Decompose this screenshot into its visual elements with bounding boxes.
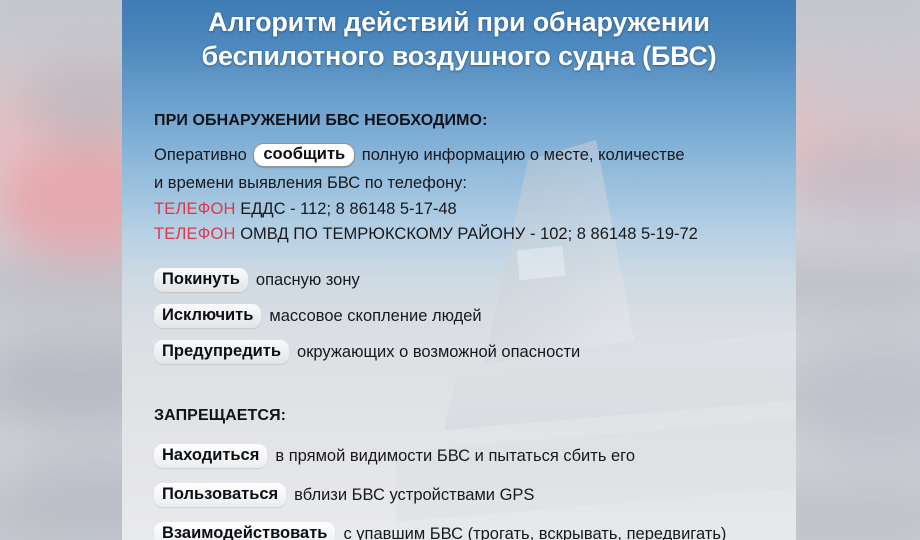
- phone-number-1: ЕДДС - 112; 8 86148 5-17-48: [240, 200, 457, 218]
- list-item: Исключить массовое скопление людей: [154, 301, 784, 331]
- poster-content: ПРИ ОБНАРУЖЕНИИ БВС НЕОБХОДИМО: Оператив…: [154, 112, 784, 540]
- title-line-1: Алгоритм действий при обнаружении: [136, 6, 782, 40]
- title-line-2: беспилотного воздушного судна (БВС): [136, 40, 782, 74]
- phone-icon-label-1: ТЕЛЕФОН: [154, 200, 236, 218]
- list-item: Покинуть опасную зону: [154, 265, 784, 295]
- action-text-pokinut: опасную зону: [256, 271, 360, 290]
- action-keyword-polzovatsya: Пользоваться: [154, 483, 286, 507]
- intro-paragraph-line-2: и времени выявления БВС по телефону:: [154, 170, 784, 197]
- action-keyword-vzaimodeystvovat: Взаимодействовать: [154, 522, 335, 540]
- phone-line-omvd: ТЕЛЕФОН ОМВД ПО ТЕМРЮКСКОМУ РАЙОНУ - 102…: [154, 222, 784, 247]
- intro-text-before: Оперативно: [154, 146, 247, 164]
- poster-panel: Алгоритм действий при обнаружении беспил…: [122, 0, 796, 540]
- list-item: Находиться в прямой видимости БВС и пыта…: [154, 441, 784, 471]
- action-text-predupredit: окружающих о возможной опасности: [297, 343, 580, 362]
- list-item: Взаимодействовать с упавшим БВС (трогать…: [154, 519, 784, 540]
- required-actions-list: Покинуть опасную зону Исключить массовое…: [154, 265, 784, 367]
- report-keyword-pill: сообщить: [253, 143, 355, 167]
- action-keyword-predupredit: Предупредить: [154, 340, 289, 364]
- forbidden-actions-list: Находиться в прямой видимости БВС и пыта…: [154, 441, 784, 540]
- section-heading-forbidden: ЗАПРЕЩАЕТСЯ:: [154, 407, 784, 425]
- phone-line-eддс: ТЕЛЕФОН ЕДДС - 112; 8 86148 5-17-48: [154, 197, 784, 222]
- phone-number-2: ОМВД ПО ТЕМРЮКСКОМУ РАЙОНУ - 102; 8 8614…: [240, 225, 698, 243]
- list-item: Предупредить окружающих о возможной опас…: [154, 337, 784, 367]
- intro-paragraph-line-1: Оперативно сообщить полную информацию о …: [154, 142, 784, 169]
- intro-text-after: полную информацию о месте, количестве: [362, 146, 685, 164]
- action-text-nahoditsya: в прямой видимости БВС и пытаться сбить …: [275, 447, 635, 466]
- poster-title: Алгоритм действий при обнаружении беспил…: [122, 6, 796, 74]
- section-heading-required: ПРИ ОБНАРУЖЕНИИ БВС НЕОБХОДИМО:: [154, 112, 784, 130]
- phone-icon-label-2: ТЕЛЕФОН: [154, 225, 236, 243]
- action-keyword-pokinut: Покинуть: [154, 268, 248, 292]
- action-keyword-isklyuchit: Исключить: [154, 304, 261, 328]
- list-item: Пользоваться вблизи БВС устройствами GPS: [154, 480, 784, 510]
- action-text-isklyuchit: массовое скопление людей: [269, 307, 481, 326]
- action-keyword-nahoditsya: Находиться: [154, 444, 267, 468]
- action-text-polzovatsya: вблизи БВС устройствами GPS: [294, 486, 534, 505]
- action-text-vzaimodeystvovat: с упавшим БВС (трогать, вскрывать, перед…: [343, 525, 726, 540]
- poster-screenshot: Алгоритм действий при обнаружении беспил…: [0, 0, 920, 540]
